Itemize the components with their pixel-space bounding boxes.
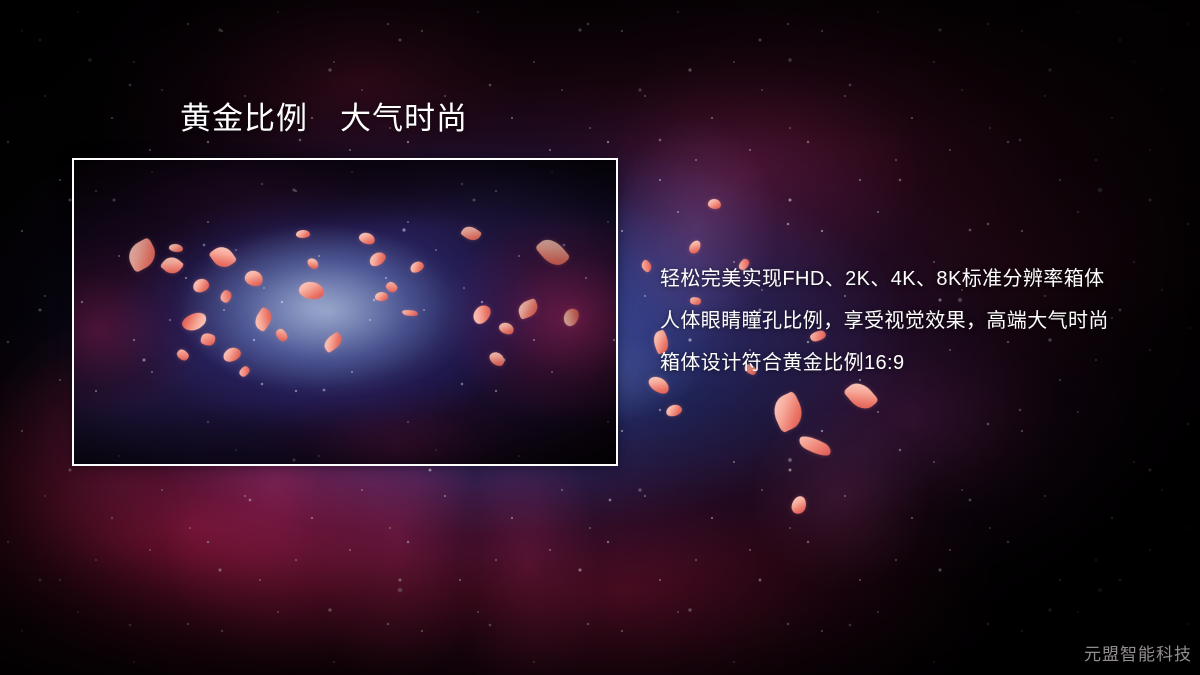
body-text-block: 轻松完美实现FHD、2K、4K、8K标准分辨率箱体 人体眼睛瞳孔比例，享受视觉效… [660,258,1160,384]
body-line-1: 轻松完美实现FHD、2K、4K、8K标准分辨率箱体 [660,258,1160,300]
petal [707,198,722,210]
petal [639,258,653,273]
nebula-photo-frame [72,158,618,466]
petal [665,403,683,418]
petal [790,495,808,516]
body-line-3: 箱体设计符合黄金比例16:9 [660,342,1160,384]
petal [687,238,703,255]
page-title: 黄金比例 大气时尚 [180,100,468,139]
presentation-slide: 黄金比例 大气时尚 轻松完美实现FHD、2K、4K、8K标准分辨率箱体 人体眼睛… [0,0,1200,675]
watermark-label: 元盟智能科技 [1084,640,1192,665]
petal [768,391,808,434]
petal [797,432,834,460]
body-line-2: 人体眼睛瞳孔比例，享受视觉效果，高端大气时尚 [660,300,1160,342]
frame-vignette [74,160,616,464]
